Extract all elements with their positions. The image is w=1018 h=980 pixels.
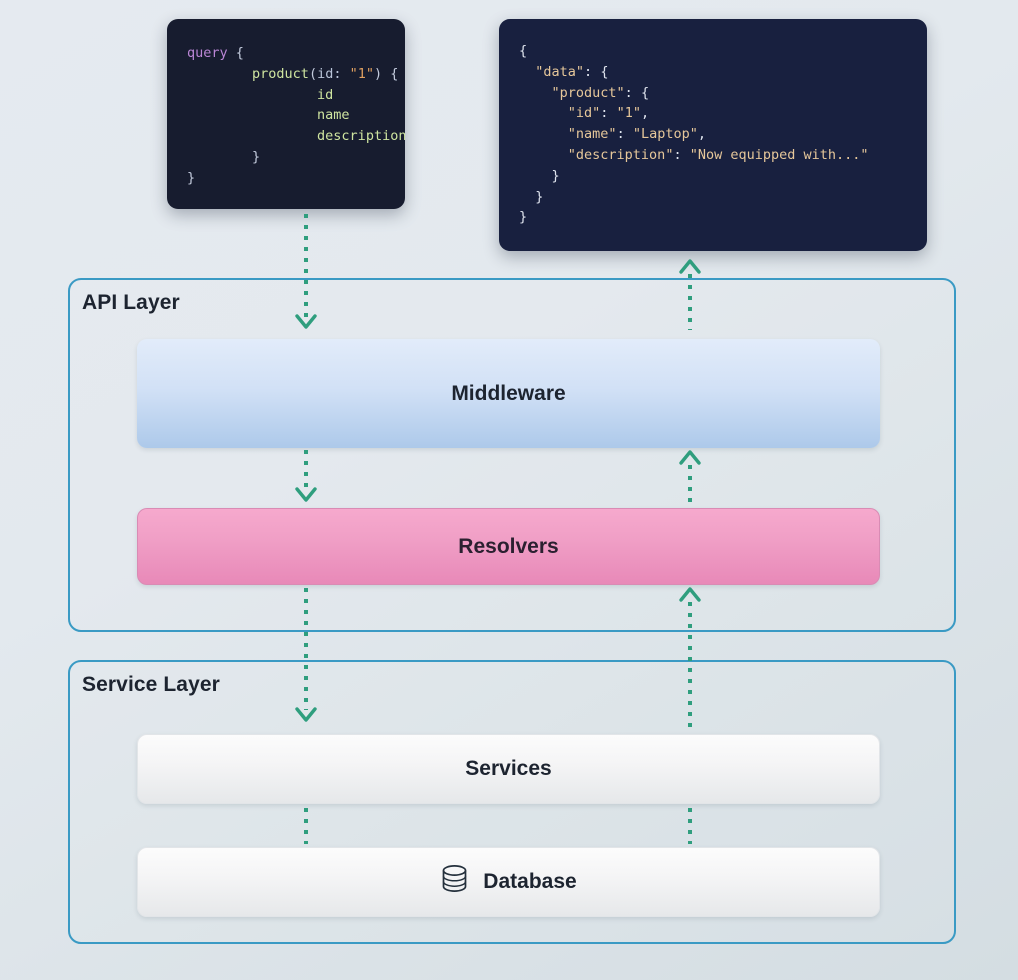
connector-database-to-services: [688, 808, 692, 844]
arrowhead-up-to-resolvers: [679, 586, 701, 602]
code-token: "1": [350, 66, 374, 82]
node-resolvers[interactable]: Resolvers: [137, 508, 880, 585]
code-line: "description": "Now equipped with...": [519, 145, 909, 166]
code-token: "id": [568, 105, 601, 121]
code-line: "data": {: [519, 62, 909, 83]
node-middleware-label: Middleware: [451, 382, 565, 406]
code-token: "name": [568, 126, 617, 142]
code-line: query {: [187, 43, 387, 64]
code-token: :: [617, 126, 633, 142]
code-token: :: [673, 147, 689, 163]
diagram-canvas: query { product(id: "1") { id name descr…: [0, 0, 1018, 980]
code-token: ,: [698, 126, 706, 142]
code-token: "description": [568, 147, 674, 163]
code-token: "product": [552, 85, 625, 101]
code-line: "product": {: [519, 83, 909, 104]
connector-resolvers-to-middleware: [688, 465, 692, 505]
code-token: description: [317, 128, 405, 144]
node-middleware[interactable]: Middleware: [137, 339, 880, 448]
code-token: "Now equipped with...": [690, 147, 869, 163]
code-line: }: [519, 187, 909, 208]
connector-services-to-database: [304, 808, 308, 844]
code-line: "id": "1",: [519, 103, 909, 124]
connector-resolvers-to-services: [304, 588, 308, 710]
code-token: ): [374, 66, 390, 82]
code-line: {: [519, 41, 909, 62]
code-token: [228, 45, 236, 61]
arrowhead-up-to-response: [679, 258, 701, 274]
code-line: product(id: "1") {: [187, 64, 387, 85]
code-token: id: [317, 87, 333, 103]
connector-services-to-resolvers: [688, 602, 692, 730]
code-line: id: [187, 85, 387, 106]
code-token: {: [600, 64, 608, 80]
database-icon: [440, 863, 469, 901]
connector-query-to-middleware: [304, 214, 308, 318]
node-services[interactable]: Services: [137, 734, 880, 804]
code-token: }: [535, 189, 543, 205]
arrowhead-down-to-resolvers: [295, 487, 317, 503]
node-database[interactable]: Database: [137, 847, 880, 917]
code-token: name: [317, 107, 350, 123]
code-token: :: [600, 105, 616, 121]
code-token: product: [252, 66, 309, 82]
api-layer-title: API Layer: [82, 291, 180, 315]
graphql-query-panel: query { product(id: "1") { id name descr…: [167, 19, 405, 209]
code-token: "data": [535, 64, 584, 80]
code-token: }: [187, 170, 195, 186]
code-line: }: [187, 147, 387, 168]
code-line: }: [187, 168, 387, 189]
code-token: ,: [641, 105, 649, 121]
code-token: }: [252, 149, 260, 165]
graphql-response-panel: { "data": { "product": { "id": "1", "nam…: [499, 19, 927, 251]
code-token: query: [187, 45, 228, 61]
code-token: (: [309, 66, 317, 82]
service-layer-title: Service Layer: [82, 673, 220, 697]
code-token: "1": [617, 105, 641, 121]
node-services-label: Services: [465, 757, 551, 781]
code-token: {: [641, 85, 649, 101]
code-token: }: [552, 168, 560, 184]
code-token: id:: [317, 66, 350, 82]
code-token: :: [584, 64, 600, 80]
arrowhead-up-to-middleware: [679, 449, 701, 465]
code-token: "Laptop": [633, 126, 698, 142]
connector-middleware-to-resolvers: [304, 450, 308, 490]
code-line: }: [519, 207, 909, 228]
arrowhead-down-to-middleware: [295, 314, 317, 330]
arrowhead-down-to-services: [295, 707, 317, 723]
code-token: {: [236, 45, 244, 61]
code-token: {: [390, 66, 398, 82]
node-resolvers-label: Resolvers: [458, 535, 558, 559]
code-token: :: [625, 85, 641, 101]
code-token: {: [519, 43, 527, 59]
code-line: description: [187, 126, 387, 147]
code-line: "name": "Laptop",: [519, 124, 909, 145]
node-database-label: Database: [483, 870, 576, 894]
code-line: name: [187, 105, 387, 126]
code-line: }: [519, 166, 909, 187]
connector-middleware-to-response: [688, 274, 692, 330]
code-token: }: [519, 209, 527, 225]
